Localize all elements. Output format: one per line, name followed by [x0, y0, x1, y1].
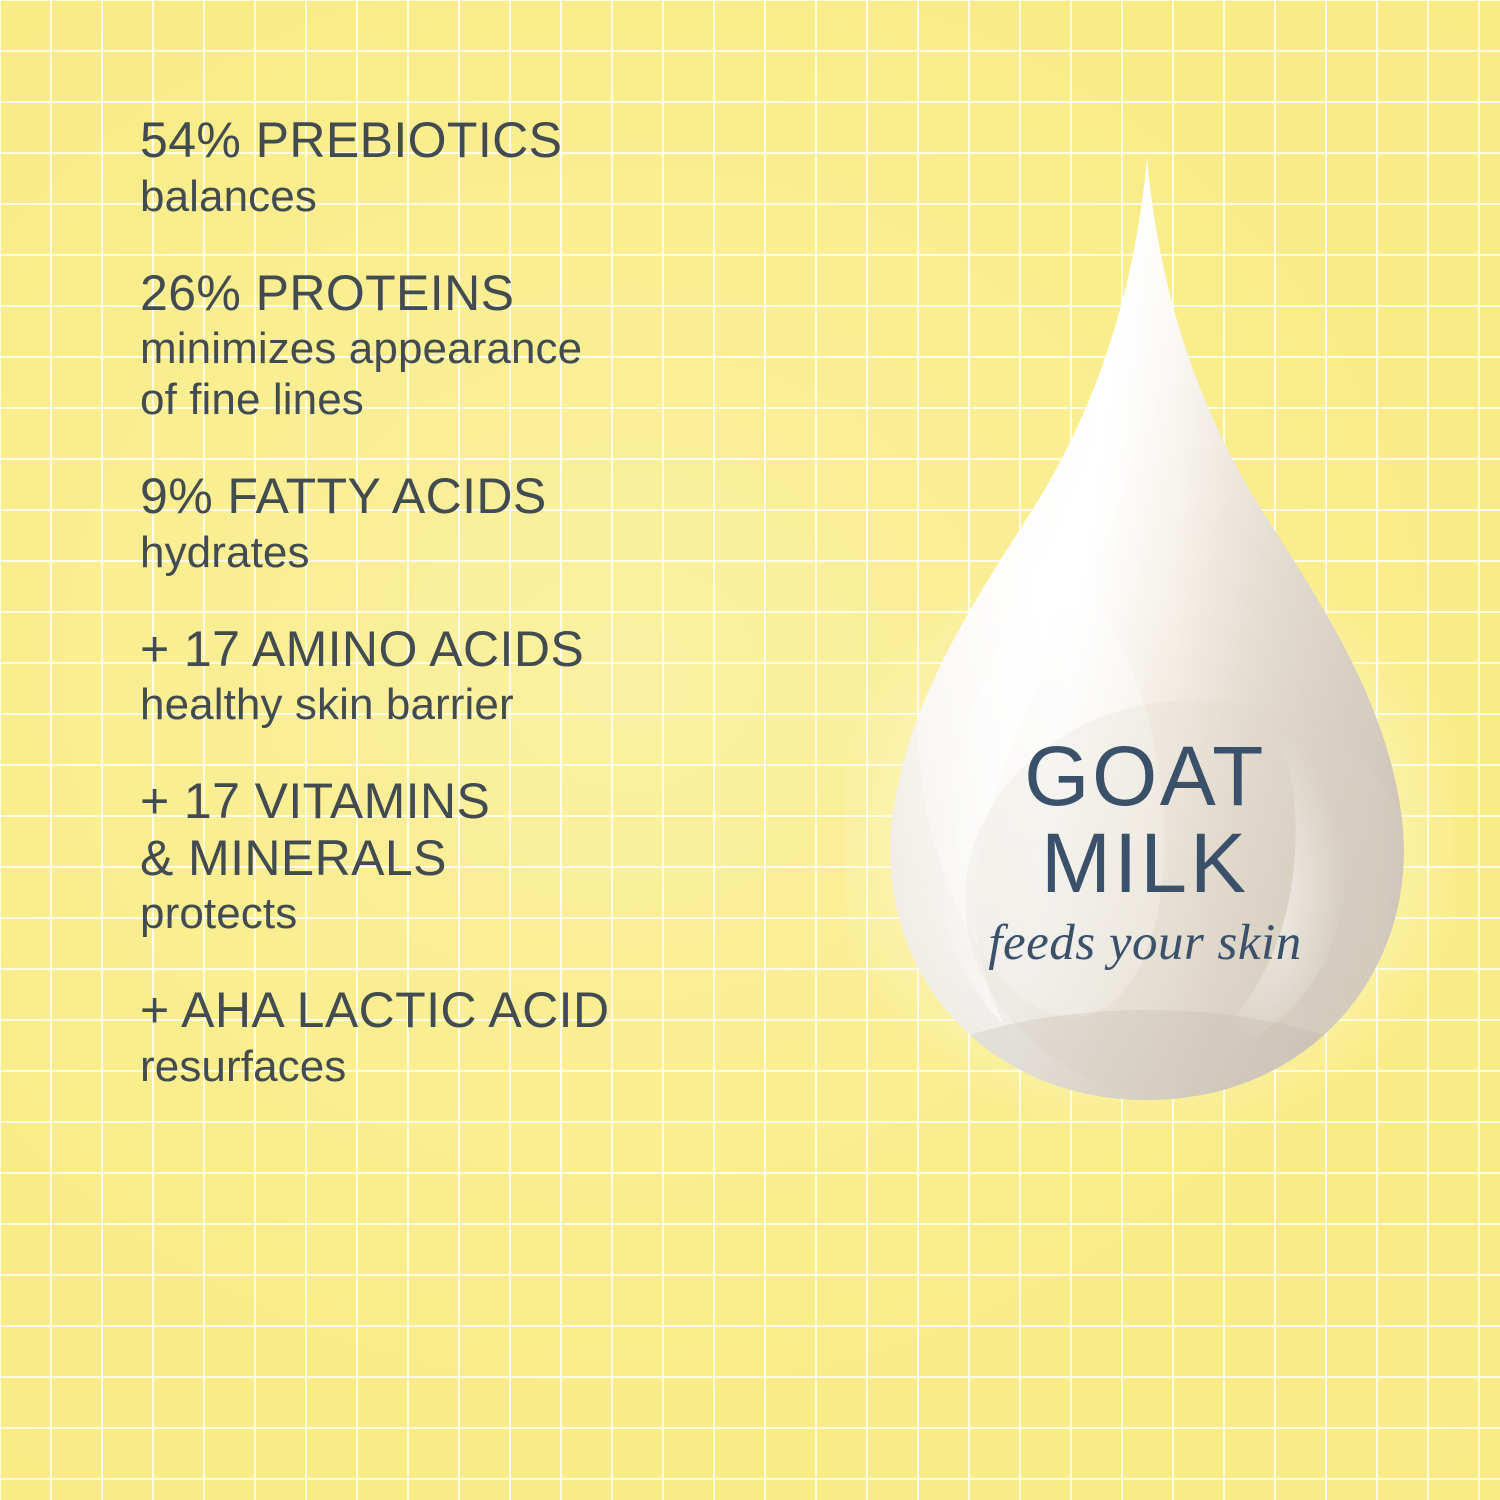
benefit-item-vitamins-minerals: + 17 VITAMINS & MINERALS protects	[140, 773, 860, 939]
benefit-subtext: hydrates	[140, 527, 860, 578]
benefit-item-proteins: 26% PROTEINS minimizes appearance of fin…	[140, 265, 860, 426]
milk-droplet-graphic	[845, 140, 1455, 1220]
benefit-item-prebiotics: 54% PREBIOTICS balances	[140, 112, 860, 222]
droplet-svg	[845, 140, 1455, 1220]
benefit-item-fatty-acids: 9% FATTY ACIDS hydrates	[140, 468, 860, 578]
benefit-headline: 9% FATTY ACIDS	[140, 468, 860, 525]
benefit-subtext: resurfaces	[140, 1041, 860, 1092]
benefit-item-amino-acids: + 17 AMINO ACIDS healthy skin barrier	[140, 621, 860, 731]
benefit-subtext: protects	[140, 888, 860, 939]
goat-milk-ingredient-poster: 54% PREBIOTICS balances 26% PROTEINS min…	[0, 0, 1500, 1500]
benefit-subtext: healthy skin barrier	[140, 679, 860, 730]
benefit-subtext: minimizes appearance of fine lines	[140, 323, 860, 425]
benefit-headline: + AHA LACTIC ACID	[140, 982, 860, 1039]
benefit-headline: 26% PROTEINS	[140, 265, 860, 322]
benefits-list: 54% PREBIOTICS balances 26% PROTEINS min…	[140, 112, 860, 1092]
benefit-subtext: balances	[140, 171, 860, 222]
benefit-headline: + 17 VITAMINS & MINERALS	[140, 773, 860, 886]
benefit-headline: + 17 AMINO ACIDS	[140, 621, 860, 678]
benefit-headline: 54% PREBIOTICS	[140, 112, 860, 169]
benefit-item-aha-lactic-acid: + AHA LACTIC ACID resurfaces	[140, 982, 860, 1092]
